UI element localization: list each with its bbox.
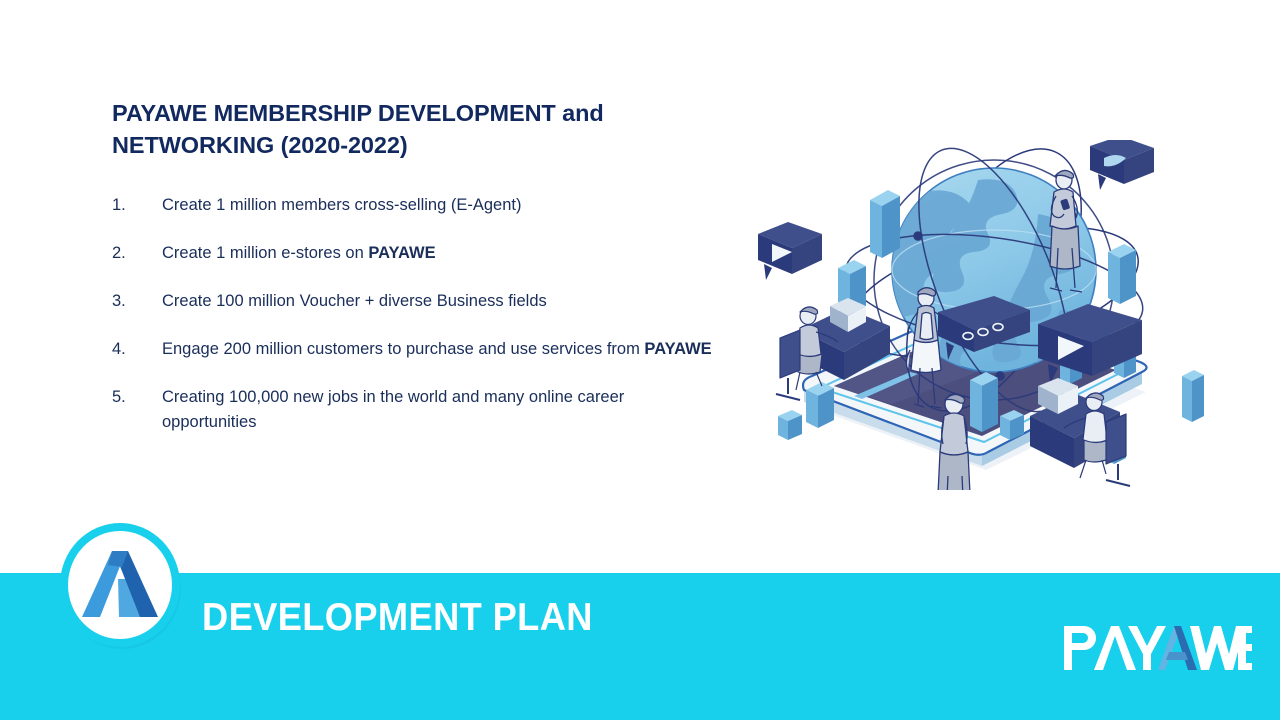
list-item: 5. Creating 100,000 new jobs in the worl… (112, 385, 712, 435)
list-item-number: 1. (112, 193, 162, 218)
page-title-line1: PAYAWE MEMBERSHIP DEVELOPMENT and (112, 97, 712, 129)
speech-bubble-icon (1090, 140, 1154, 190)
list-item-text: Engage 200 million customers to purchase… (162, 337, 712, 362)
list-item-number: 4. (112, 337, 162, 362)
list-item: 1. Create 1 million members cross-sellin… (112, 193, 712, 218)
list-item: 3. Create 100 million Voucher + diverse … (112, 289, 712, 314)
isometric-global-network-illustration (742, 140, 1262, 490)
list-item: 4. Engage 200 million customers to purch… (112, 337, 712, 362)
list-item-text-plain: Creating 100,000 new jobs in the world a… (162, 388, 624, 431)
list-item-number: 2. (112, 241, 162, 266)
page-title: PAYAWE MEMBERSHIP DEVELOPMENT and NETWOR… (112, 97, 712, 161)
list-item-number: 3. (112, 289, 162, 314)
slide-canvas: PAYAWE MEMBERSHIP DEVELOPMENT and NETWOR… (0, 0, 1280, 720)
numbered-list: 1. Create 1 million members cross-sellin… (112, 193, 712, 458)
list-item-text-plain: Create 100 million Voucher + diverse Bus… (162, 292, 547, 310)
banner-title: DEVELOPMENT PLAN (202, 596, 593, 640)
list-item: 2. Create 1 million e-stores on PAYAWE (112, 241, 712, 266)
list-item-text: Create 100 million Voucher + diverse Bus… (162, 289, 712, 314)
list-item-text-plain: Create 1 million e-stores on (162, 244, 368, 262)
list-item-text-bold: PAYAWE (644, 340, 711, 358)
payawe-circle-logo (56, 521, 184, 649)
list-item-text: Creating 100,000 new jobs in the world a… (162, 385, 712, 435)
video-bubble-left-icon (758, 222, 822, 280)
list-item-text-plain: Engage 200 million customers to purchase… (162, 340, 644, 358)
list-item-text-plain: Create 1 million members cross-selling (… (162, 196, 521, 214)
payawe-wordmark (1062, 622, 1252, 674)
list-item-text: Create 1 million e-stores on PAYAWE (162, 241, 712, 266)
list-item-text-bold: PAYAWE (368, 244, 435, 262)
list-item-text: Create 1 million members cross-selling (… (162, 193, 712, 218)
list-item-number: 5. (112, 385, 162, 410)
page-title-line2: NETWORKING (2020-2022) (112, 129, 712, 161)
